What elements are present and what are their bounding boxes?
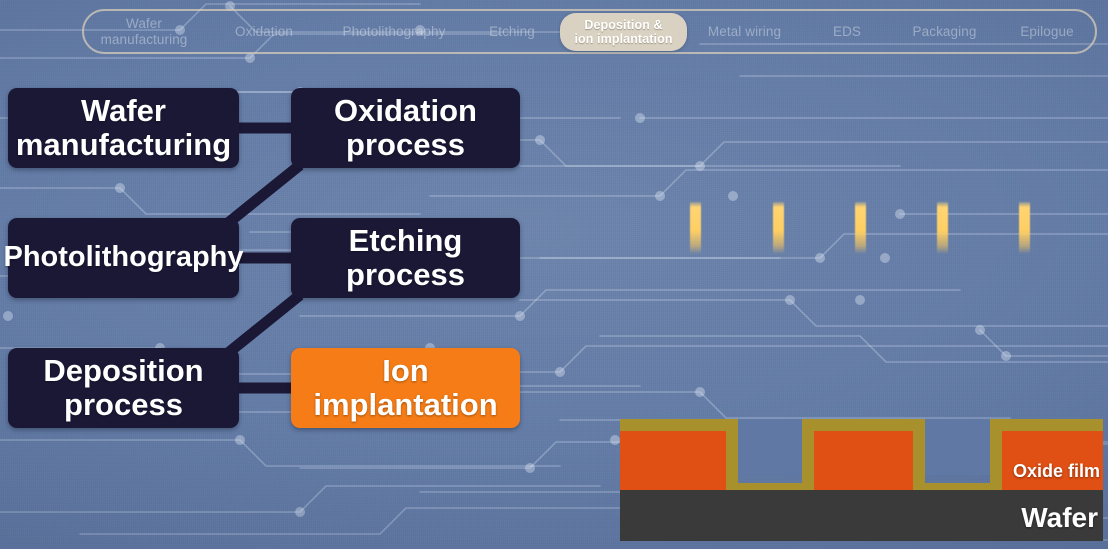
flow-box-deposition-process[interactable]: Deposition process <box>8 348 239 428</box>
tab-metal-wiring[interactable]: Metal wiring <box>687 11 802 52</box>
tab-eds[interactable]: EDS <box>802 11 892 52</box>
tab-epilogue[interactable]: Epilogue <box>997 11 1097 52</box>
wafer-cross-section-diagram: Oxide film Wafer <box>620 419 1103 541</box>
orange-block-1 <box>620 431 726 490</box>
trench-opening-1 <box>738 419 802 475</box>
tab-deposition-and-ion-implantation[interactable]: Deposition & ion implantation <box>560 13 687 51</box>
ion-beam-1 <box>690 202 701 254</box>
tab-photolithography[interactable]: Photolithography <box>324 11 464 52</box>
trench-opening-2 <box>925 419 990 475</box>
flow-box-ion-implantation[interactable]: Ion implantation <box>291 348 520 428</box>
wafer-substrate-layer <box>620 490 1103 541</box>
tab-packaging[interactable]: Packaging <box>892 11 997 52</box>
ion-beam-5 <box>1019 202 1030 254</box>
orange-block-2 <box>814 431 913 490</box>
slide-canvas: Wafer manufacturing Oxidation Photolitho… <box>0 0 1108 549</box>
tab-etching[interactable]: Etching <box>464 11 560 52</box>
tab-wafer-manufacturing[interactable]: Wafer manufacturing <box>84 11 204 52</box>
flow-box-etching-process[interactable]: Etching process <box>291 218 520 298</box>
ion-beam-2 <box>773 202 784 254</box>
flow-box-wafer-manufacturing[interactable]: Wafer manufacturing <box>8 88 239 168</box>
ion-beam-4 <box>937 202 948 254</box>
ion-beam-3 <box>855 202 866 254</box>
flow-box-photolithography[interactable]: Photolithography <box>8 218 239 298</box>
flow-box-oxidation-process[interactable]: Oxidation process <box>291 88 520 168</box>
chapter-tab-bar: Wafer manufacturing Oxidation Photolitho… <box>82 9 1097 54</box>
tab-oxidation[interactable]: Oxidation <box>204 11 324 52</box>
orange-block-3 <box>1002 431 1103 490</box>
